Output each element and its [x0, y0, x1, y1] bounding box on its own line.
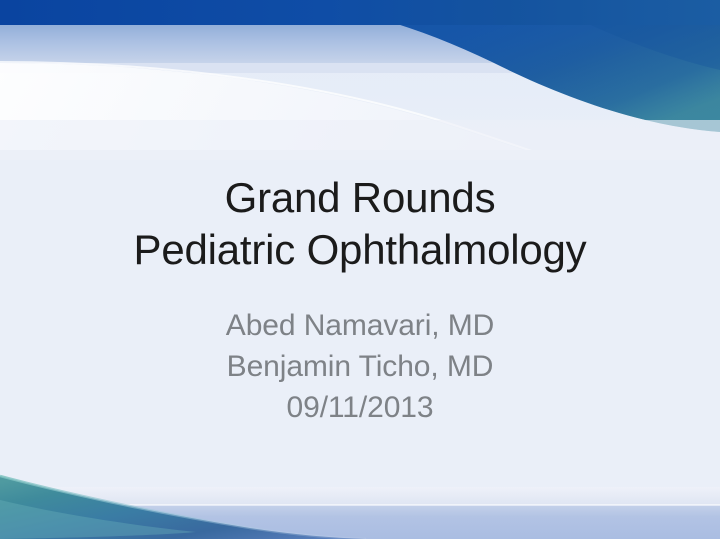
slide-title: Grand Rounds Pediatric Ophthalmology — [40, 172, 680, 276]
presentation-slide: Grand Rounds Pediatric Ophthalmology Abe… — [0, 0, 720, 539]
slide-subtitle: Abed Namavari, MD Benjamin Ticho, MD 09/… — [60, 305, 660, 428]
subtitle-date: 09/11/2013 — [60, 387, 660, 428]
subtitle-author-2: Benjamin Ticho, MD — [60, 346, 660, 387]
title-line-2: Pediatric Ophthalmology — [40, 224, 680, 276]
subtitle-author-1: Abed Namavari, MD — [60, 305, 660, 346]
slide-content: Grand Rounds Pediatric Ophthalmology Abe… — [0, 0, 720, 539]
title-line-1: Grand Rounds — [40, 172, 680, 224]
